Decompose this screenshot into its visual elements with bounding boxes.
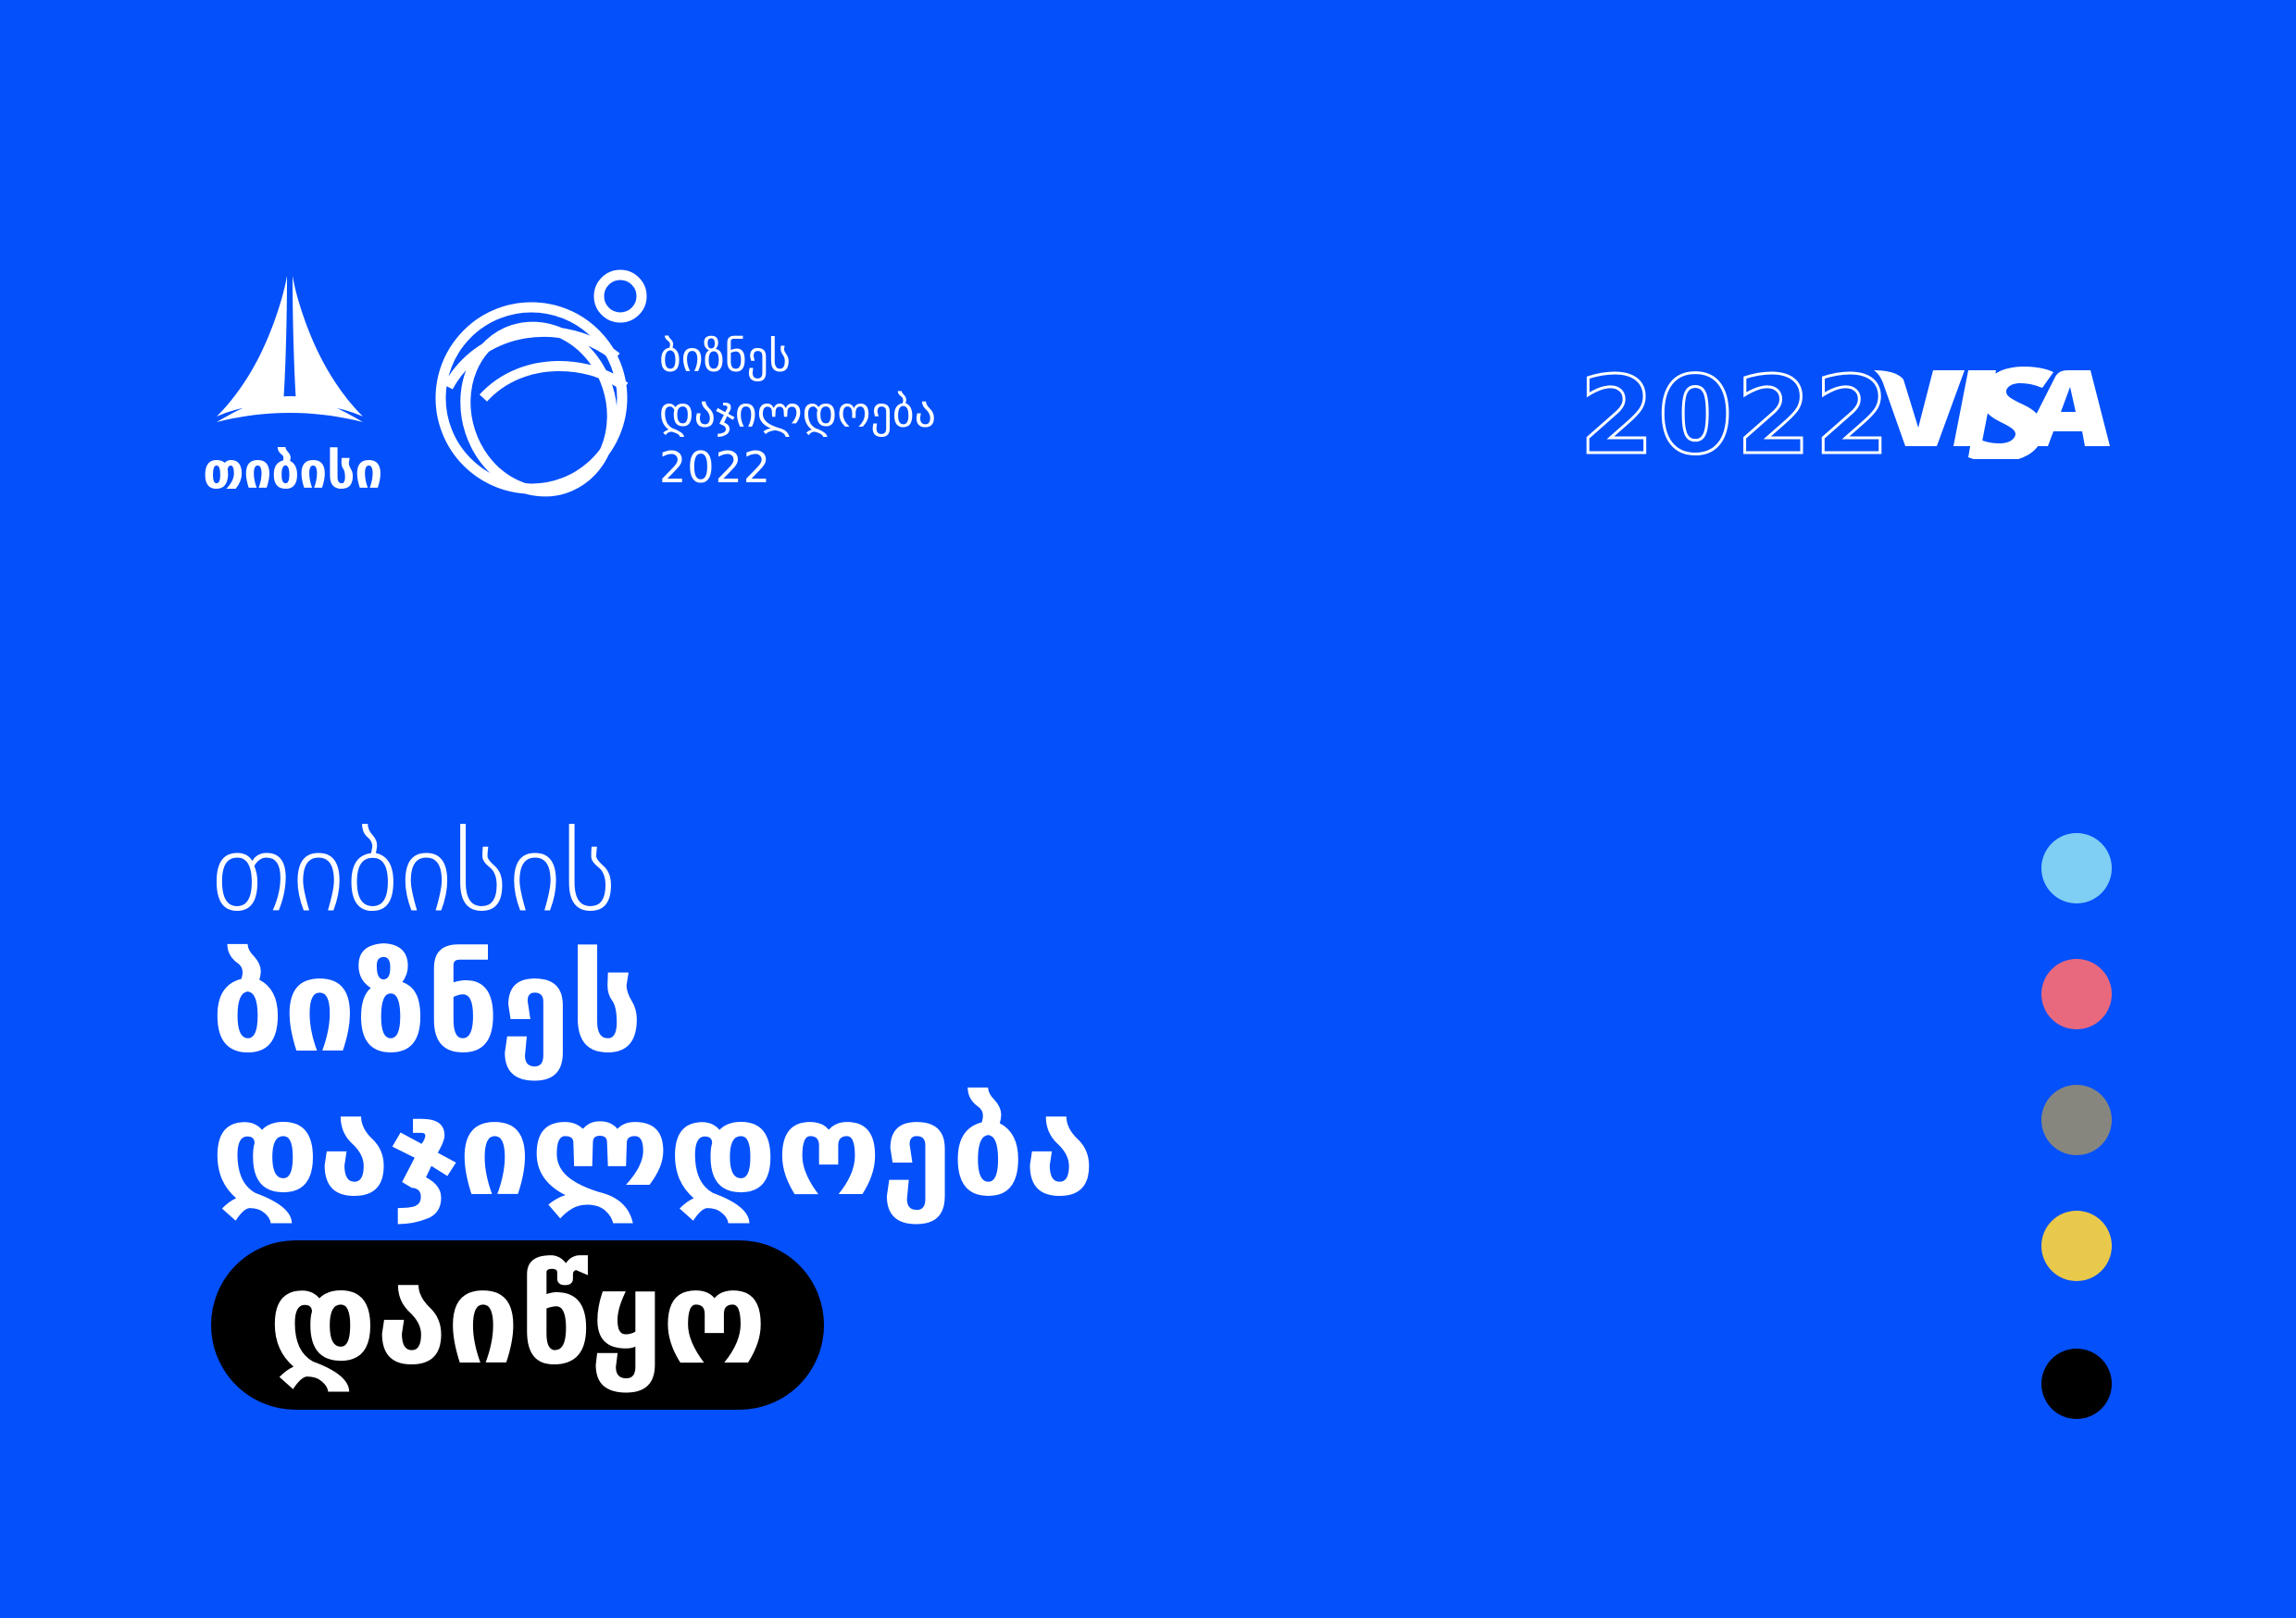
headline-line-3: დაჯილდოება — [211, 1082, 1646, 1218]
award-line-1: ბიზნეს — [659, 330, 936, 385]
award-year: 2022 — [659, 441, 936, 496]
dot-black — [2041, 1349, 2112, 1419]
dot-light-blue — [2041, 833, 2112, 903]
tbc-triangle-logo-icon — [211, 270, 368, 432]
dot-gray — [2041, 1085, 2112, 1155]
award-brand-text: ბიზნეს დაჯილდოება 2022 — [659, 330, 936, 495]
dot-yellow — [2041, 1211, 2112, 1281]
tbc-wordmark: თიბისი — [200, 446, 385, 496]
award-line-2: დაჯილდოება — [659, 385, 936, 441]
decorative-dot-column — [2041, 833, 2115, 1425]
headline-line-2: ბიზნეს — [211, 939, 1646, 1075]
headline-pill-row: დაიწყო — [211, 1240, 1646, 1410]
header-bar: თიბისი — [0, 0, 2296, 574]
headline-highlight-pill: დაიწყო — [211, 1240, 824, 1410]
headline-line-1: თიბისის — [211, 815, 1646, 929]
visa-logo — [1872, 357, 2122, 459]
business-award-orb-logo-icon — [435, 268, 648, 500]
year-outline-text: 2022 — [1579, 363, 1893, 470]
poster-canvas: თიბისი — [0, 0, 2296, 1618]
headline-block: თიბისის ბიზნეს დაჯილდოება დაიწყო — [211, 815, 1646, 1410]
award-brand-lockup: ბიზნეს დაჯილდოება 2022 — [435, 268, 1009, 509]
dot-coral-red — [2041, 959, 2112, 1029]
tbc-brand-lockup: თიბისი — [211, 270, 443, 511]
